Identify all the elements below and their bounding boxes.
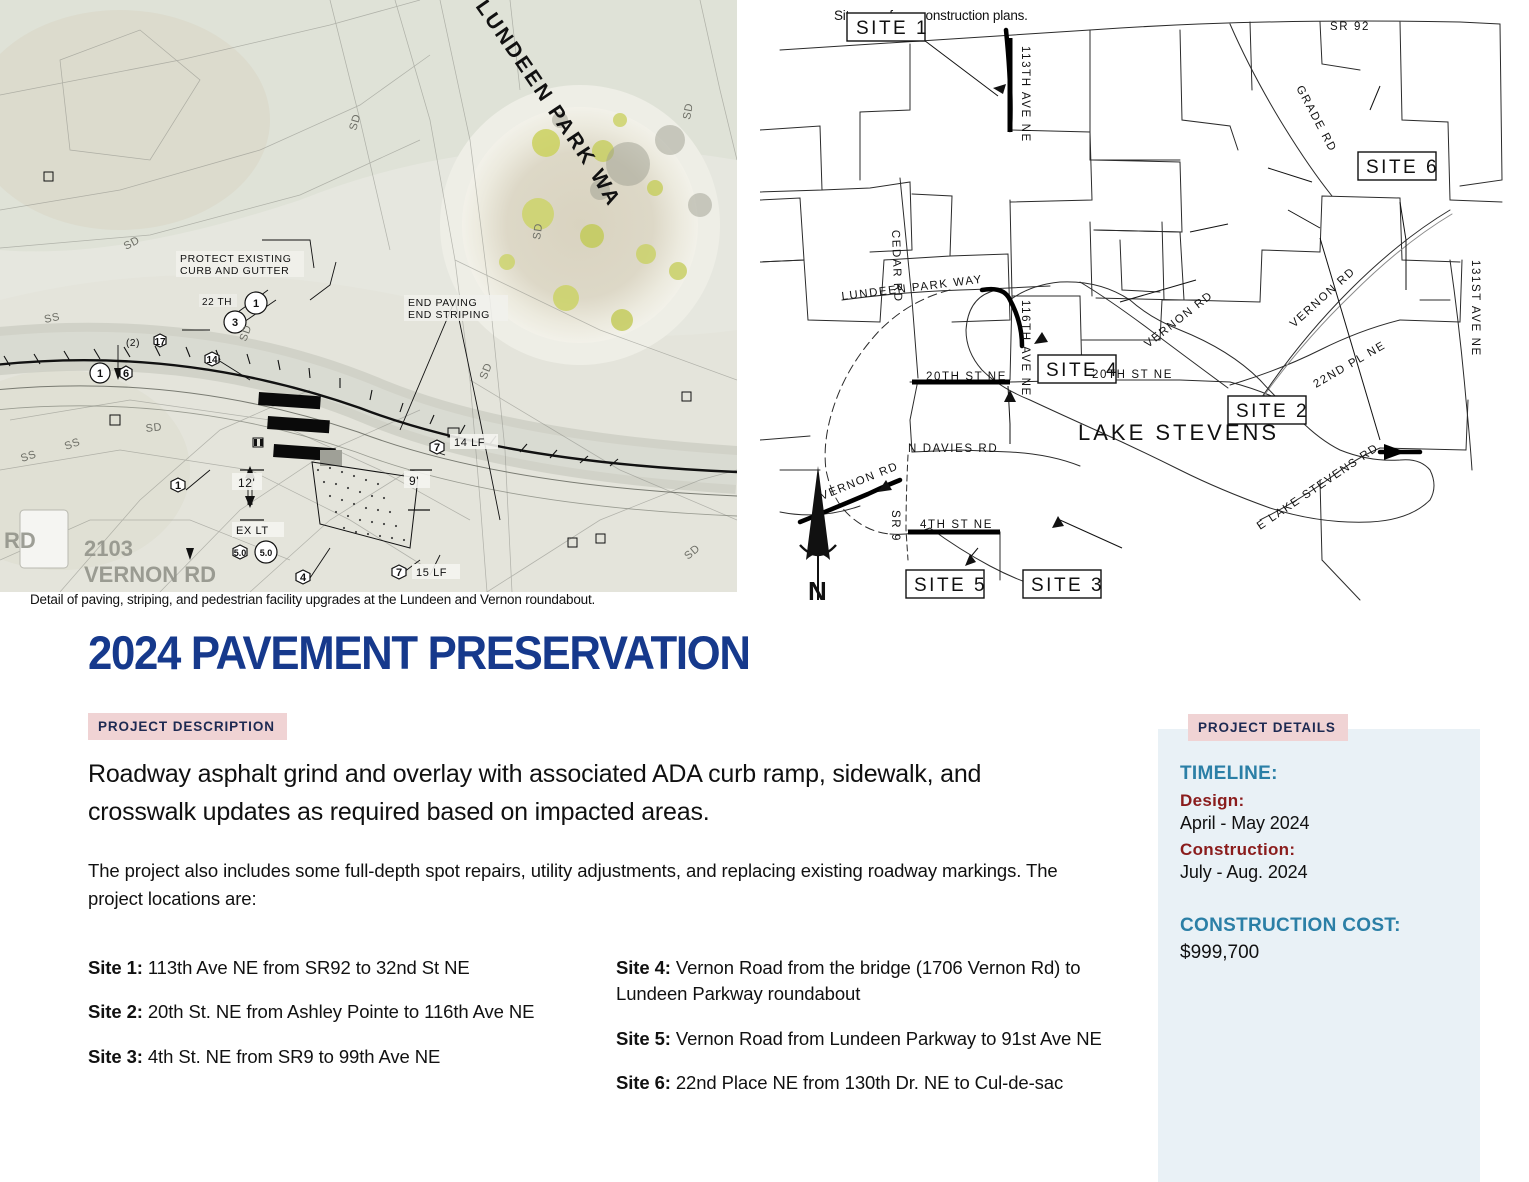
site2-arrowhead	[1004, 390, 1016, 402]
site-text: 113th Ave NE from SR92 to 32nd St NE	[143, 957, 470, 978]
aerial-qty-15lf: 15 LF	[416, 567, 447, 579]
aerial-label-vernon-rd: N RD	[0, 528, 36, 553]
site-map-image: Site map from construction plans.	[760, 0, 1529, 610]
site-map-road-4th: 4TH ST NE	[920, 519, 993, 531]
aerial-qty-14lf: 14 LF	[454, 437, 485, 449]
svg-text:6: 6	[123, 368, 129, 380]
site-map-box-site5: SITE 5	[914, 575, 987, 596]
site-list-item: Site 2: 20th St. NE from Ashley Pointe t…	[88, 999, 588, 1025]
site4-arrowhead	[1034, 332, 1048, 344]
site-map-road-grade-rd: GRADE RD	[1293, 84, 1338, 155]
project-details-badge: PROJECT DETAILS	[1188, 714, 1348, 741]
construction-cost-value: $999,700	[1180, 942, 1480, 964]
svg-text:7: 7	[434, 442, 440, 454]
svg-text:17: 17	[154, 337, 166, 348]
site-map-road-113th: 113TH AVE NE	[1019, 46, 1031, 143]
svg-text:5.0: 5.0	[234, 548, 247, 558]
svg-text:7: 7	[396, 567, 402, 579]
aerial-note-protect-2: CURB AND GUTTER	[180, 265, 289, 277]
project-details-content: TIMELINE: Design: April - May 2024 Const…	[1180, 763, 1480, 964]
site-map-road-20th-b: 20TH ST NE	[1092, 369, 1173, 381]
site-list-item: Site 4: Vernon Road from the bridge (170…	[616, 955, 1116, 1008]
site-list-item: Site 1: 113th Ave NE from SR92 to 32nd S…	[88, 955, 588, 981]
site-list-item: Site 3: 4th St. NE from SR9 to 99th Ave …	[88, 1044, 588, 1070]
site-text: 22nd Place NE from 130th Dr. NE to Cul-d…	[671, 1072, 1063, 1093]
site3-arrowhead-2	[1052, 516, 1064, 528]
aerial-plan-detail-image: 1 3 17 14 1	[0, 0, 737, 592]
design-value: April - May 2024	[1180, 813, 1480, 834]
aerial-utility-sd-6: SD	[531, 222, 545, 240]
site-map-road-sr9: SR 9	[889, 510, 901, 542]
aerial-detail-caption: Detail of paving, striping, and pedestri…	[30, 592, 595, 607]
site-text: Vernon Road from Lundeen Parkway to 91st…	[671, 1028, 1102, 1049]
svg-text:3: 3	[232, 317, 238, 329]
site-map-box-site1: SITE 1	[856, 18, 929, 39]
aerial-dim-12: 12'	[238, 476, 255, 490]
aerial-label-22th: 22 TH	[202, 297, 232, 308]
site-label: Site 3:	[88, 1046, 143, 1067]
north-arrow-label: N	[808, 576, 827, 606]
svg-text:4: 4	[300, 572, 307, 584]
site-map-box-site2: SITE 2	[1236, 401, 1309, 422]
site-list-item: Site 6: 22nd Place NE from 130th Dr. NE …	[616, 1070, 1116, 1096]
aerial-label-2: (2)	[126, 338, 140, 349]
aerial-note-protect-1: PROTECT EXISTING	[180, 253, 292, 265]
site-map-road-116th: 116TH AVE NE	[1019, 300, 1031, 397]
site-list-column-right: Site 4: Vernon Road from the bridge (170…	[616, 955, 1116, 1114]
svg-text:1: 1	[253, 298, 259, 310]
site-list-item: Site 5: Vernon Road from Lundeen Parkway…	[616, 1026, 1116, 1052]
site-label: Site 1:	[88, 957, 143, 978]
site-map-box-site6: SITE 6	[1366, 157, 1439, 178]
site-map-box-site3: SITE 3	[1031, 575, 1104, 596]
construction-cost-heading: CONSTRUCTION COST:	[1180, 915, 1480, 937]
site-text: 4th St. NE from SR9 to 99th Ave NE	[143, 1046, 440, 1067]
site-map-road-davies: N DAVIES RD	[908, 443, 998, 455]
site-map-road-sr92: SR 92	[1330, 21, 1370, 33]
site-label: Site 6:	[616, 1072, 671, 1093]
svg-text:1: 1	[97, 368, 103, 380]
page-title: 2024 PAVEMENT PRESERVATION	[88, 628, 750, 677]
description-lead: Roadway asphalt grind and overlay with a…	[88, 755, 1018, 831]
aerial-address-number: 2103	[84, 536, 133, 561]
site-map-road-20th-a: 20TH ST NE	[926, 371, 1007, 383]
svg-text:5.0: 5.0	[260, 548, 273, 558]
site-list-column-left: Site 1: 113th Ave NE from SR92 to 32nd S…	[88, 955, 588, 1114]
aerial-address-street: VERNON RD	[84, 562, 216, 587]
site-label: Site 5:	[616, 1028, 671, 1049]
site-list: Site 1: 113th Ave NE from SR92 to 32nd S…	[88, 955, 1118, 1114]
site-text: 20th St. NE from Ashley Pointe to 116th …	[143, 1001, 535, 1022]
site-label: Site 2:	[88, 1001, 143, 1022]
project-description-badge: PROJECT DESCRIPTION	[88, 713, 287, 740]
svg-text:1: 1	[175, 480, 181, 492]
aerial-note-end-striping: END STRIPING	[408, 309, 490, 321]
project-fact-sheet: 1 3 17 14 1	[0, 0, 1529, 1182]
site-map-label-lake-stevens: LAKE STEVENS	[1078, 420, 1279, 445]
site3-arrowhead	[965, 554, 976, 566]
timeline-heading: TIMELINE:	[1180, 763, 1480, 785]
aerial-note-end-paving: END PAVING	[408, 297, 477, 309]
aerial-dim-9: 9'	[409, 474, 419, 488]
description-sub: The project also includes some full-dept…	[88, 857, 1063, 913]
project-description-body: Roadway asphalt grind and overlay with a…	[88, 755, 1108, 913]
construction-value: July - Aug. 2024	[1180, 862, 1480, 883]
site-map-road-22nd-pl: 22ND PL NE	[1312, 340, 1388, 391]
site6-arrowhead	[1384, 444, 1406, 460]
design-label: Design:	[1180, 791, 1480, 811]
aerial-utility-sd-2: SD	[145, 421, 163, 435]
svg-text:14: 14	[206, 355, 218, 366]
details-spacer	[1180, 883, 1480, 915]
aerial-label-ex-lt: EX LT	[236, 525, 269, 537]
site-label: Site 4:	[616, 957, 671, 978]
site-map-road-131st: 131ST AVE NE	[1469, 260, 1481, 357]
site4-segment	[982, 289, 1022, 346]
site-text: Vernon Road from the bridge (1706 Vernon…	[616, 957, 1080, 1004]
construction-label: Construction:	[1180, 840, 1480, 860]
